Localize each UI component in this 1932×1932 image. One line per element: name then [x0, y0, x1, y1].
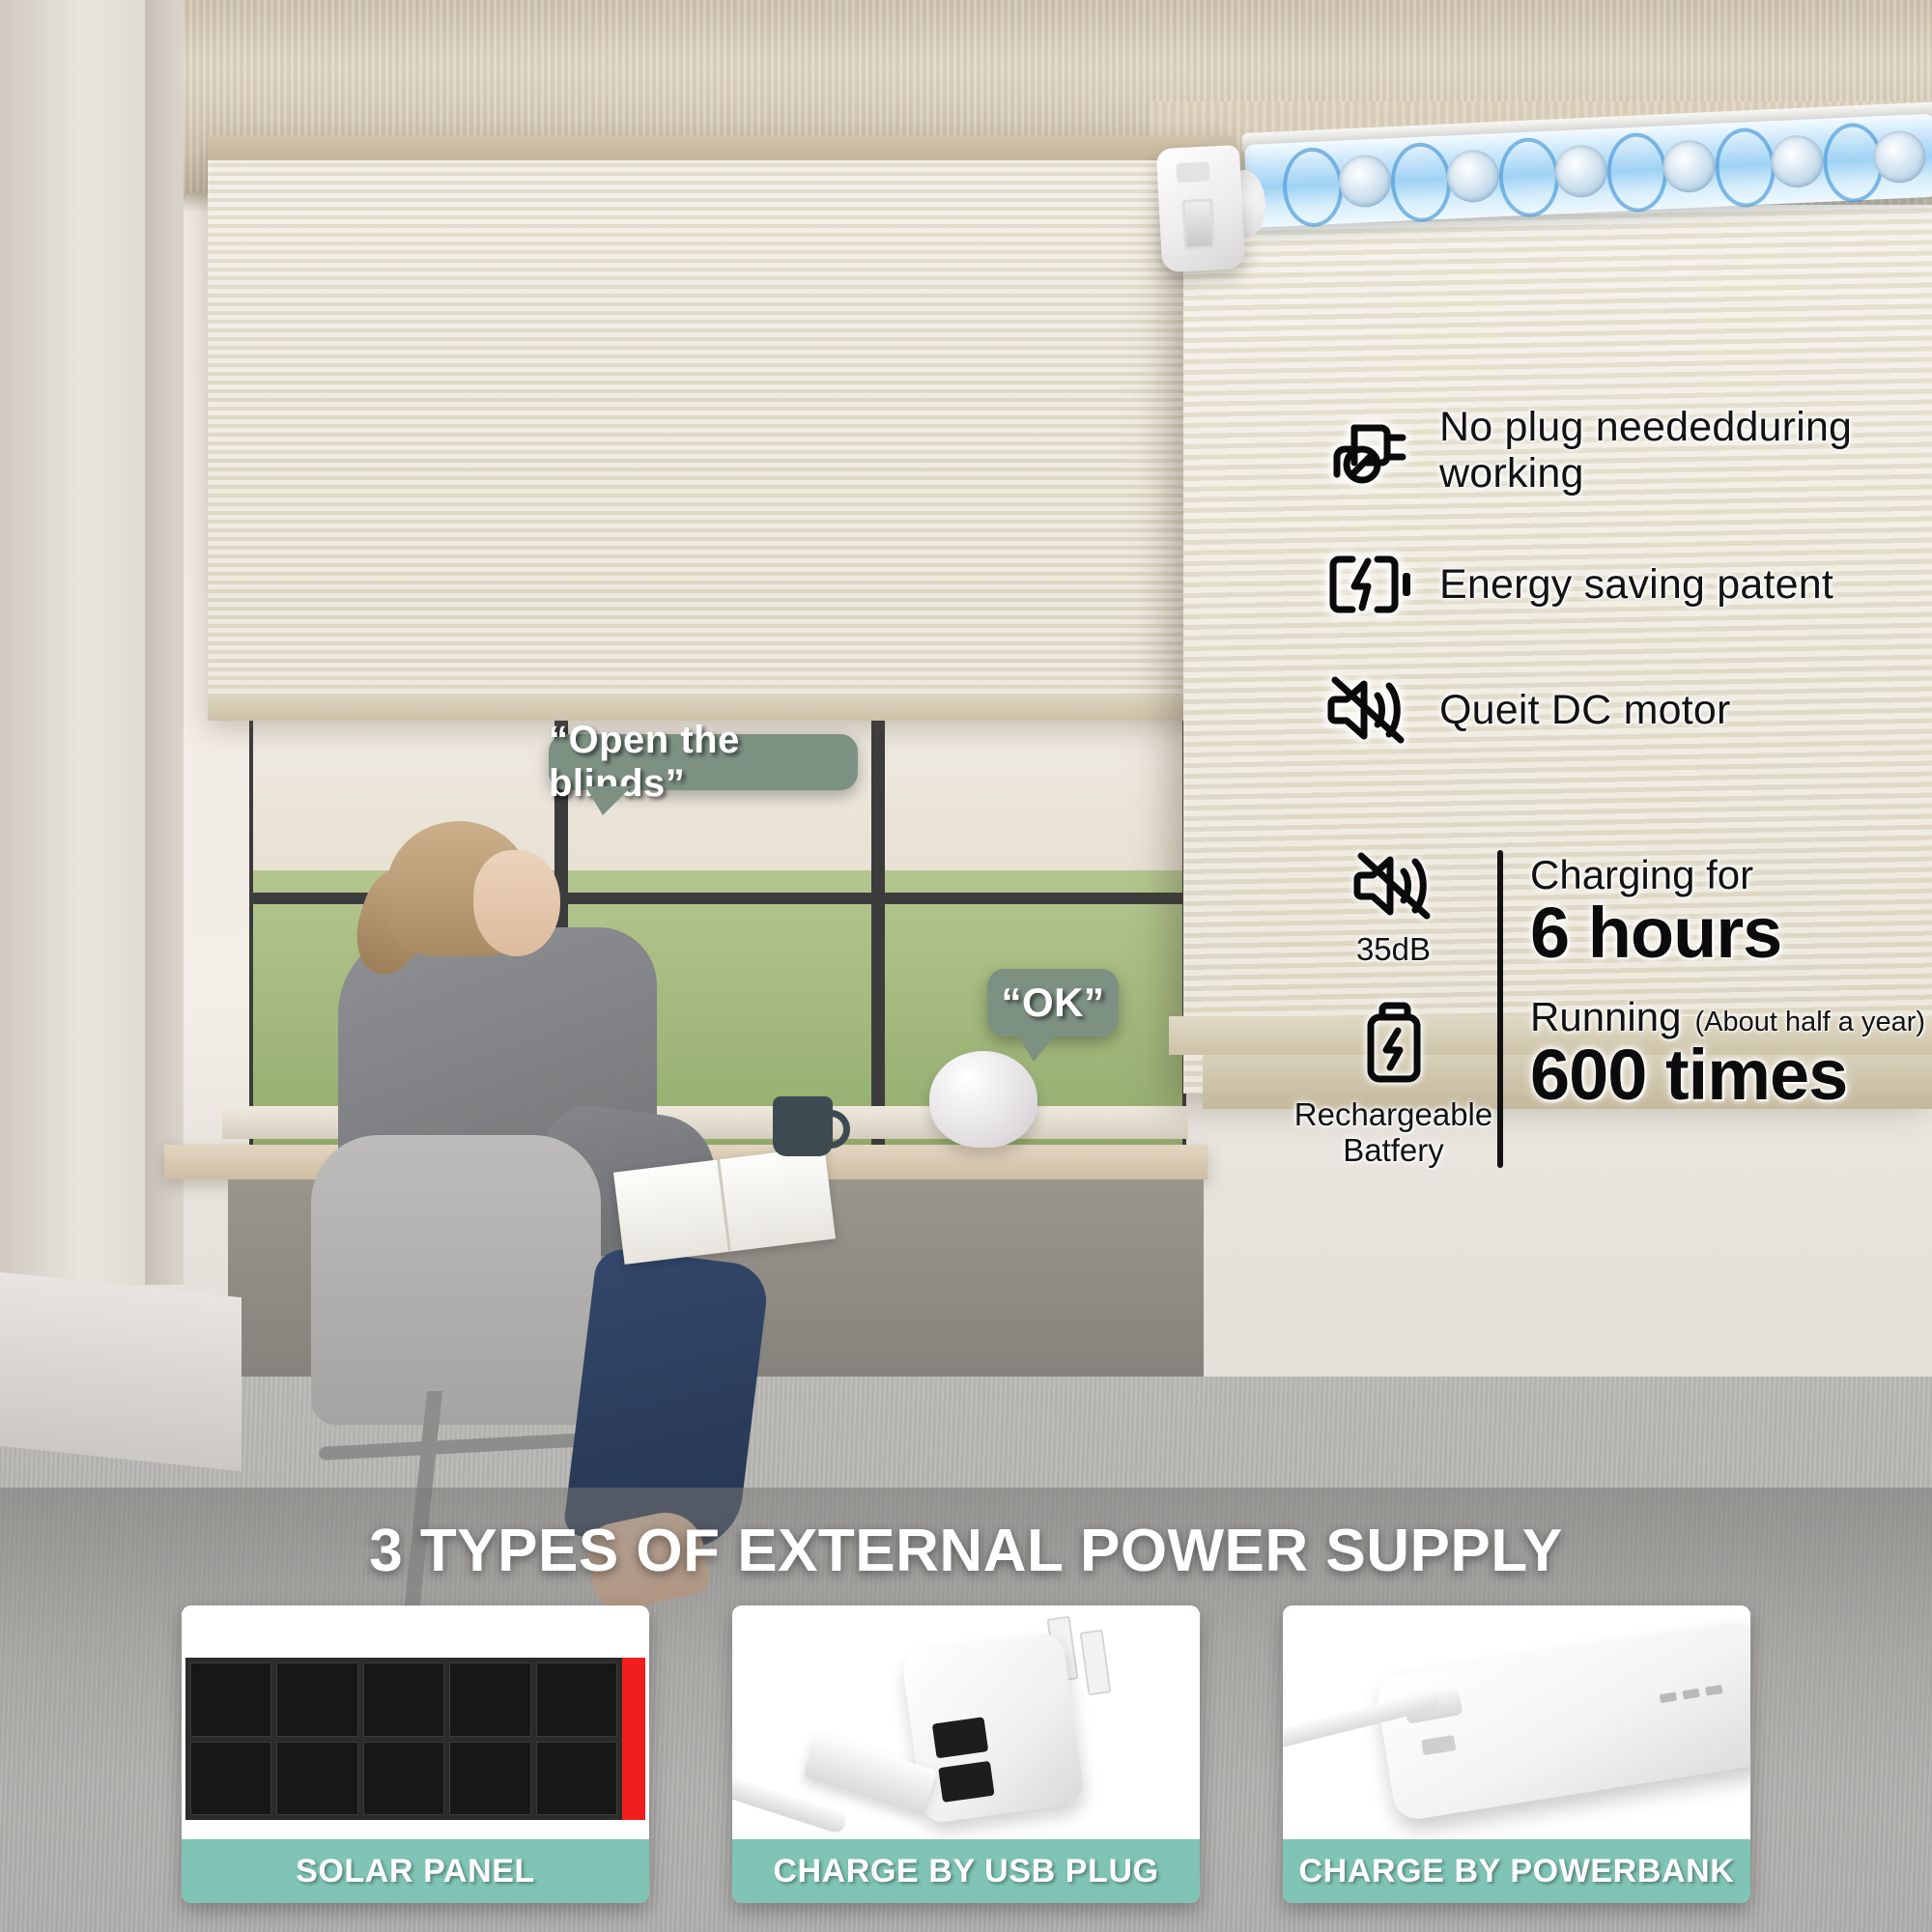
- rechargeable-battery-caption: RechargeableBatfery: [1294, 1097, 1492, 1168]
- card-usb-plug[interactable]: CHARGE BY USB PLUG: [732, 1605, 1200, 1903]
- usb-plug-image: [732, 1605, 1200, 1839]
- powerbank-port: [1421, 1735, 1456, 1755]
- left-wall: [0, 0, 184, 1285]
- battery-bolt-icon: [1321, 547, 1414, 622]
- powerbank-led-indicators: [1660, 1685, 1723, 1703]
- left-shade-headrail: [208, 135, 1232, 160]
- feature-list: No plug neededduring working Energy savi…: [1321, 404, 1932, 798]
- charging-label: Charging for: [1530, 854, 1932, 896]
- motor-head-cap: [1177, 161, 1210, 183]
- speech-bubble-open-text: “Open the blinds”: [549, 719, 858, 806]
- mute-speaker-icon: [1350, 850, 1438, 926]
- speech-bubble-ok-text: “OK”: [1002, 980, 1105, 1026]
- product-infographic: “Open the blinds” “OK”: [0, 0, 1932, 1932]
- charging-value: 6 hours: [1530, 896, 1932, 971]
- powerbank-body: [1375, 1619, 1750, 1823]
- solar-cell-grid: [185, 1658, 622, 1820]
- feature-row: Queit DC motor: [1321, 672, 1932, 748]
- noise-level-stat: 35dB: [1350, 850, 1438, 967]
- solar-panel-image: [182, 1605, 649, 1839]
- speech-bubble-ok: “OK”: [987, 969, 1119, 1037]
- noise-level-caption: 35dB: [1356, 932, 1431, 967]
- battery-stats-block: 35dB RechargeableBatfery Charging for 6 …: [1299, 850, 1932, 1168]
- motor-head-usb-port: [1182, 198, 1216, 250]
- left-shade-hembar: [208, 696, 1232, 721]
- card-label-solar-panel: SOLAR PANEL: [182, 1839, 649, 1903]
- running-value: 600 times: [1530, 1038, 1932, 1113]
- rechargeable-battery-icon: [1359, 1000, 1429, 1092]
- stats-divider: [1497, 850, 1503, 1168]
- feature-label: Energy saving patent: [1439, 561, 1833, 608]
- running-label: Running: [1530, 996, 1681, 1038]
- coffee-mug: [773, 1096, 833, 1156]
- feature-row: Energy saving patent: [1321, 547, 1932, 622]
- card-label-powerbank: CHARGE BY POWERBANK: [1283, 1839, 1750, 1903]
- solar-panel-red-edge: [622, 1658, 645, 1820]
- stats-value-column: Charging for 6 hours Running (About half…: [1530, 850, 1932, 1168]
- rechargeable-battery-stat: RechargeableBatfery: [1294, 1000, 1492, 1168]
- mute-speaker-icon: [1321, 672, 1414, 748]
- power-supply-cards: SOLAR PANEL CHARGE BY USB PLUG: [0, 1605, 1932, 1915]
- card-solar-panel[interactable]: SOLAR PANEL: [182, 1605, 649, 1903]
- stats-icon-column: 35dB RechargeableBatfery: [1299, 850, 1488, 1168]
- smart-speaker: [929, 1051, 1037, 1148]
- banner-headline: 3 TYPES OF EXTERNAL POWER SUPPLY: [0, 1517, 1932, 1585]
- motor-head-bracket: [1156, 145, 1246, 272]
- running-line: Running (About half a year): [1530, 996, 1932, 1038]
- powerbank-image: [1283, 1605, 1750, 1839]
- feature-row: No plug neededduring working: [1321, 404, 1932, 497]
- armchair: [311, 1135, 601, 1425]
- left-roller-shade: [208, 135, 1232, 720]
- card-label-usb-plug: CHARGE BY USB PLUG: [732, 1839, 1200, 1903]
- feature-label: Queit DC motor: [1439, 687, 1731, 733]
- card-powerbank[interactable]: CHARGE BY POWERBANK: [1283, 1605, 1750, 1903]
- solar-panel-art: [185, 1658, 645, 1820]
- feature-label: No plug neededduring working: [1439, 404, 1932, 497]
- baseboard: [0, 1272, 241, 1471]
- person-face: [473, 850, 560, 956]
- speech-bubble-open-the-blinds: “Open the blinds”: [549, 734, 858, 790]
- no-plug-icon: [1321, 412, 1414, 488]
